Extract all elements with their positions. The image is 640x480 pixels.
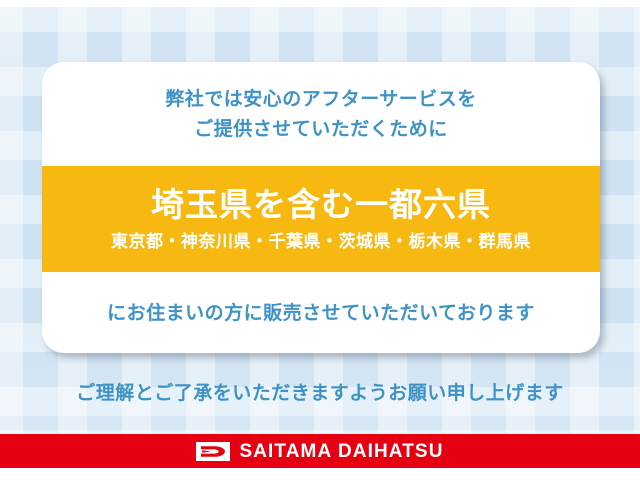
brand-footer: SAITAMA DAIHATSU	[0, 434, 640, 468]
intro-line-2: ご提供させていただくために	[194, 114, 448, 144]
card-intro-block: 弊社では安心のアフターサービスを ご提供させていただくために	[42, 62, 600, 166]
outro-line: にお住まいの方に販売させていただいております	[107, 298, 535, 328]
top-white-strip	[0, 0, 640, 7]
bottom-white-strip	[0, 468, 640, 480]
brand-name: SAITAMA DAIHATSU	[239, 442, 443, 461]
highlight-title: 埼玉県を含む一都六県	[151, 183, 491, 227]
prefecture-list: 東京都・神奈川県・千葉県・茨城県・栃木県・群馬県	[111, 229, 531, 255]
closing-note: ご理解とご了承をいただきますようお願い申し上げます	[0, 378, 640, 405]
intro-line-1: 弊社では安心のアフターサービスを	[165, 84, 477, 114]
notice-card: 弊社では安心のアフターサービスを ご提供させていただくために 埼玉県を含む一都六…	[42, 62, 600, 353]
highlight-band: 埼玉県を含む一都六県 東京都・神奈川県・千葉県・茨城県・栃木県・群馬県	[42, 166, 600, 272]
notice-banner: 弊社では安心のアフターサービスを ご提供させていただくために 埼玉県を含む一都六…	[0, 0, 640, 480]
card-outro-block: にお住まいの方に販売させていただいております	[42, 272, 600, 353]
daihatsu-d-icon	[196, 442, 230, 461]
